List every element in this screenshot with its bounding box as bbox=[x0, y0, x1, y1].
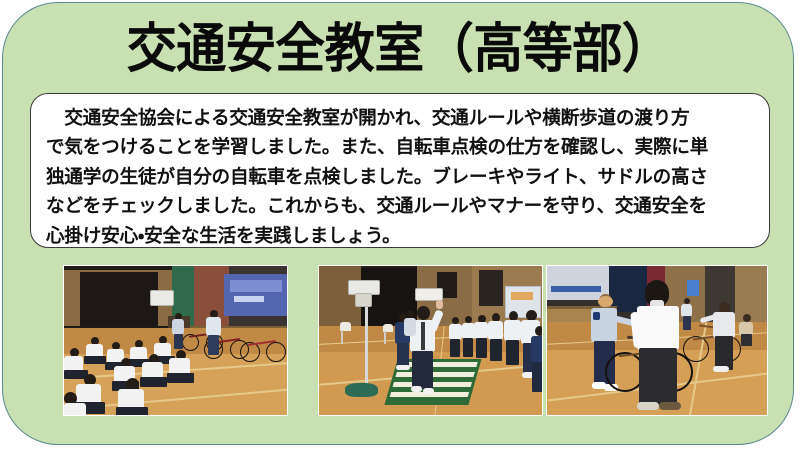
signal-pole bbox=[365, 296, 368, 390]
photo-assembly-scene bbox=[64, 266, 287, 415]
description-line-1: 交通安全協会による交通安全教室が開かれ、交通ルールや横断歩道の渡り方 bbox=[46, 104, 754, 133]
page-title-container: 交通安全教室（高等部） bbox=[3, 19, 794, 75]
description-line-5: 心掛け安心・安全な生活を実践しましょう。 bbox=[46, 222, 754, 251]
description-line-2: で気をつけることを学習しました。また、自転車点検の仕方を確認し、実際に単 bbox=[46, 133, 754, 162]
poster-root: 交通安全教室（高等部） 交通安全協会による交通安全教室が開かれ、交通ルールや横断… bbox=[0, 0, 800, 449]
student-shirt bbox=[637, 306, 679, 350]
page-title: 交通安全教室（高等部） bbox=[127, 19, 672, 78]
poster-panel: 交通安全教室（高等部） 交通安全協会による交通安全教室が開かれ、交通ルールや横断… bbox=[2, 2, 794, 445]
student-crossing bbox=[417, 306, 430, 320]
photo-bike-check bbox=[546, 265, 768, 416]
description-line-4: などをチェックしました。これからも、交通ルールやマナーを守り、交通安全を bbox=[46, 192, 754, 221]
photo-crosswalk-scene bbox=[319, 266, 542, 415]
description-line-3: 独通学の生徒が自分の自転車を点検しました。ブレーキやライト、サドルの高さ bbox=[46, 163, 754, 192]
bicycle-icon bbox=[240, 330, 286, 360]
description-text: 交通安全協会による交通安全教室が開かれ、交通ルールや横断歩道の渡り方 で気をつけ… bbox=[46, 104, 754, 251]
officer-badge-icon bbox=[593, 312, 600, 320]
photo-assembly bbox=[63, 265, 288, 416]
photo-bike-check-scene bbox=[547, 266, 767, 415]
signal-base bbox=[345, 383, 378, 397]
description-card: 交通安全協会による交通安全教室が開かれ、交通ルールや横断歩道の渡り方 で気をつけ… bbox=[30, 93, 770, 248]
photo-crosswalk bbox=[318, 265, 543, 416]
